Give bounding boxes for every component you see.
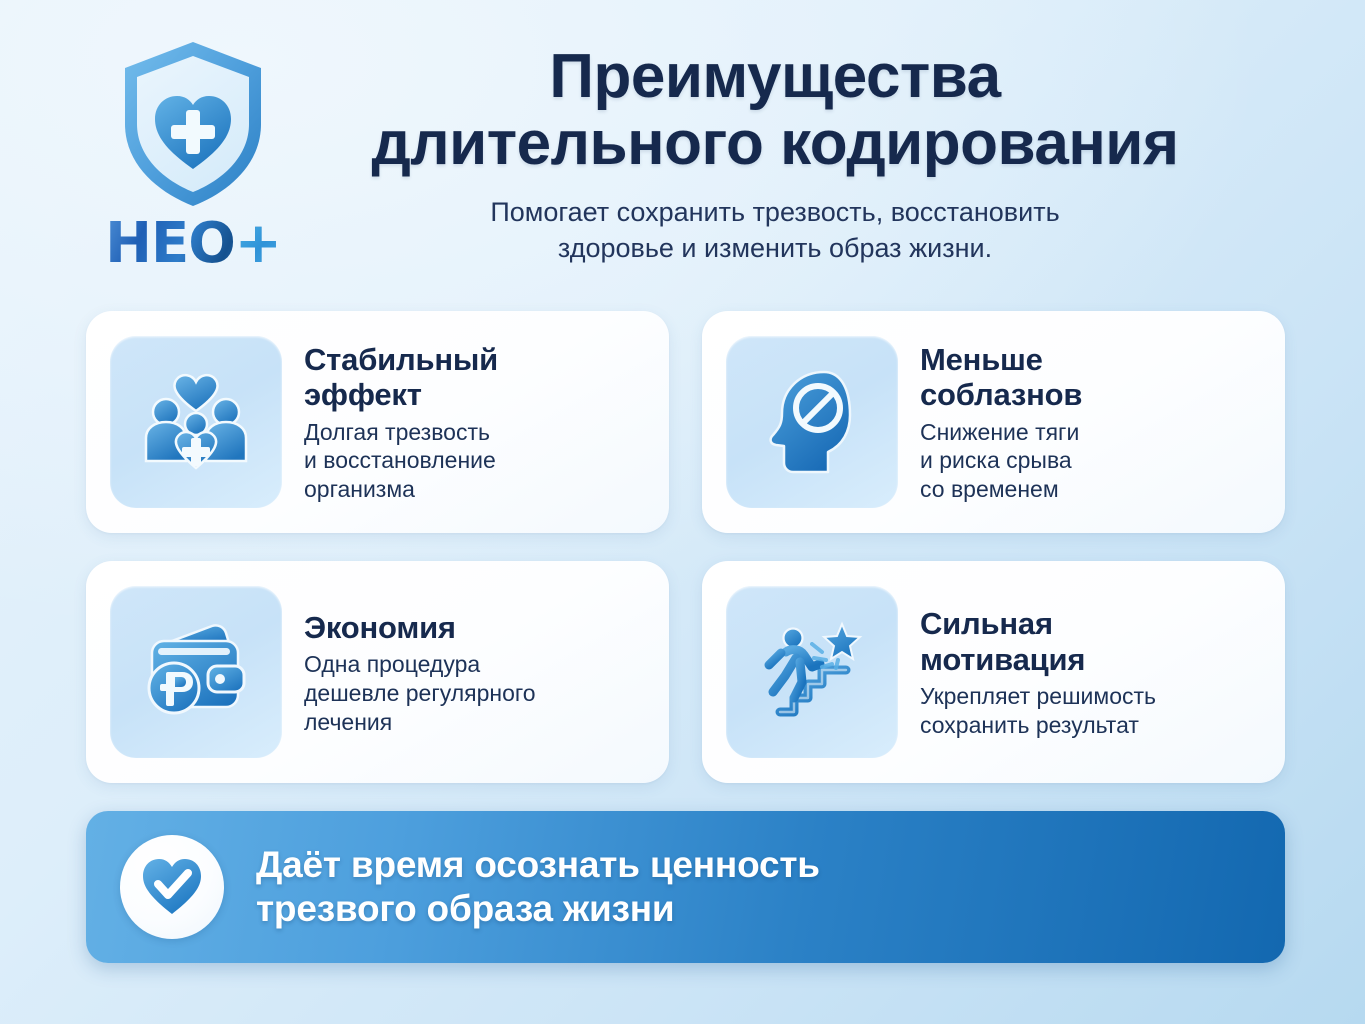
header: НЕО+ Преимущества длительного кодировани…	[0, 0, 1365, 300]
card-description: Снижение тяги и риска срыва со временем	[920, 418, 1082, 504]
head-prohibition-icon	[750, 360, 874, 484]
icon-tile	[726, 586, 898, 758]
infographic-root: НЕО+ Преимущества длительного кодировани…	[0, 0, 1365, 1024]
benefits-grid: Стабильный эффект Долгая трезвость и вос…	[86, 311, 1285, 783]
page-subtitle: Помогает сохранить трезвость, восстанови…	[280, 194, 1270, 266]
card-title: Экономия	[304, 610, 536, 645]
banner-text: Даёт время осознать ценность трезвого об…	[256, 843, 820, 932]
page-title: Преимущества длительного кодирования	[280, 44, 1270, 178]
page-subtitle-line-2: здоровье и изменить образ жизни.	[280, 230, 1270, 266]
page-title-line-2: длительного кодирования	[280, 111, 1270, 178]
brand-wordmark-plus: +	[235, 211, 281, 276]
card-title: Меньше соблазнов	[920, 342, 1082, 413]
page-subtitle-line-1: Помогает сохранить трезвость, восстанови…	[280, 194, 1270, 230]
card-title: Сильная мотивация	[920, 606, 1156, 677]
banner-badge	[120, 835, 224, 939]
card-title-line-1: Меньше	[920, 342, 1043, 377]
card-description: Долгая трезвость и восстановление органи…	[304, 418, 498, 504]
icon-tile	[726, 336, 898, 508]
card-body: Экономия Одна процедура дешевле регулярн…	[304, 608, 536, 737]
brand-wordmark: НЕО+	[105, 216, 281, 272]
brand-wordmark-text: НЕО	[105, 211, 235, 276]
bottom-banner: Даёт время осознать ценность трезвого об…	[86, 811, 1285, 963]
icon-tile	[110, 586, 282, 758]
title-block: Преимущества длительного кодирования Пом…	[280, 44, 1270, 266]
person-stairs-star-icon	[750, 610, 874, 734]
card-description: Укрепляет решимость сохранить результат	[920, 682, 1156, 740]
benefit-card-fewer-temptations: Меньше соблазнов Снижение тяги и риска с…	[702, 311, 1285, 533]
heart-check-circle-icon	[139, 854, 205, 920]
card-title-line-2: эффект	[304, 377, 422, 412]
card-title-line-1: Сильная	[920, 606, 1053, 641]
card-title-line-1: Экономия	[304, 610, 456, 645]
card-title-line-1: Стабильный	[304, 342, 498, 377]
card-body: Меньше соблазнов Снижение тяги и риска с…	[920, 340, 1082, 504]
page-title-line-1: Преимущества	[549, 42, 1000, 111]
card-description: Одна процедура дешевле регулярного лечен…	[304, 650, 536, 736]
wallet-ruble-coin-icon	[134, 610, 258, 734]
benefit-card-savings: Экономия Одна процедура дешевле регулярн…	[86, 561, 669, 783]
benefit-card-strong-motivation: Сильная мотивация Укрепляет решимость со…	[702, 561, 1285, 783]
icon-tile	[110, 336, 282, 508]
card-body: Стабильный эффект Долгая трезвость и вос…	[304, 340, 498, 504]
brand-logo: НЕО+	[78, 38, 308, 272]
card-body: Сильная мотивация Укрепляет решимость со…	[920, 604, 1156, 739]
benefit-card-stable-effect: Стабильный эффект Долгая трезвость и вос…	[86, 311, 669, 533]
card-title-line-2: мотивация	[920, 642, 1085, 677]
family-heart-cross-icon	[134, 360, 258, 484]
card-title-line-2: соблазнов	[920, 377, 1082, 412]
shield-heart-cross-icon	[117, 38, 269, 210]
card-title: Стабильный эффект	[304, 342, 498, 413]
